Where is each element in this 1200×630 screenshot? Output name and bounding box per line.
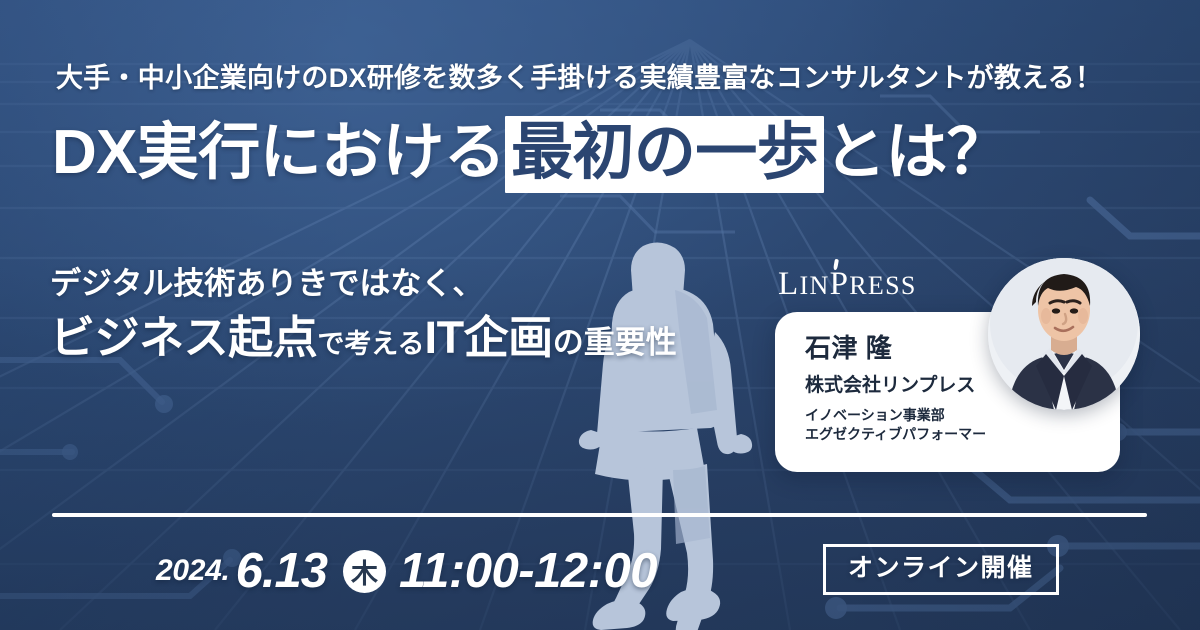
event-time: 11:00-12:00 [399, 543, 657, 599]
speaker-avatar [988, 258, 1140, 410]
logo-letter-l: L [778, 266, 799, 302]
subtitle-connector-2: の重要性 [553, 325, 677, 360]
kicker-text: 大手・中小企業向けのDX研修を数多く手掛ける実績豊富なコンサルタントが教える！ [56, 56, 1102, 95]
event-schedule: 2024. 6.13 木 11:00-12:00 [156, 543, 657, 599]
subtitle-emphasis-itplan: IT企画 [425, 312, 553, 363]
logo-letters-in: IN [799, 271, 829, 300]
logo-letters-ress: RESS [849, 271, 916, 300]
subtitle-line-2: ビジネス起点で考えるIT企画の重要性 [50, 315, 677, 360]
subtitle-connector-1: で考える [317, 329, 424, 359]
speaker-department: イノベーション事業部 [805, 406, 986, 425]
logo-letter-p-wrap: P [830, 268, 850, 301]
subtitle-emphasis-business: ビジネス起点 [50, 312, 317, 363]
subtitle-line-1: デジタル技術ありきではなく、 [50, 258, 483, 303]
speaker-company: 株式会社リンプレス [805, 370, 975, 397]
speaker-role: イノベーション事業部 エグゼクティブパフォーマー [805, 406, 986, 444]
speaker-name: 石津 隆 [805, 328, 892, 365]
speaker-title: エグゼクティブパフォーマー [805, 425, 986, 444]
headline-tail: とは？ [824, 118, 1008, 187]
headline-lead: DX実行における [52, 118, 505, 187]
event-date: 6.13 [236, 543, 327, 599]
page-title: DX実行における最初の一歩とは？ [52, 118, 1008, 187]
online-event-badge: オンライン開催 [823, 544, 1059, 595]
linpress-logo: LINPRESS [778, 268, 917, 301]
webinar-banner: 大手・中小企業向けのDX研修を数多く手掛ける実績豊富なコンサルタントが教える！ … [0, 0, 1200, 630]
event-year: 2024. [156, 554, 230, 588]
horizontal-divider [52, 513, 1147, 517]
day-of-week-badge: 木 [343, 550, 386, 593]
logo-letter-p: P [830, 266, 850, 302]
headline-highlight: 最初の一歩 [505, 116, 824, 193]
